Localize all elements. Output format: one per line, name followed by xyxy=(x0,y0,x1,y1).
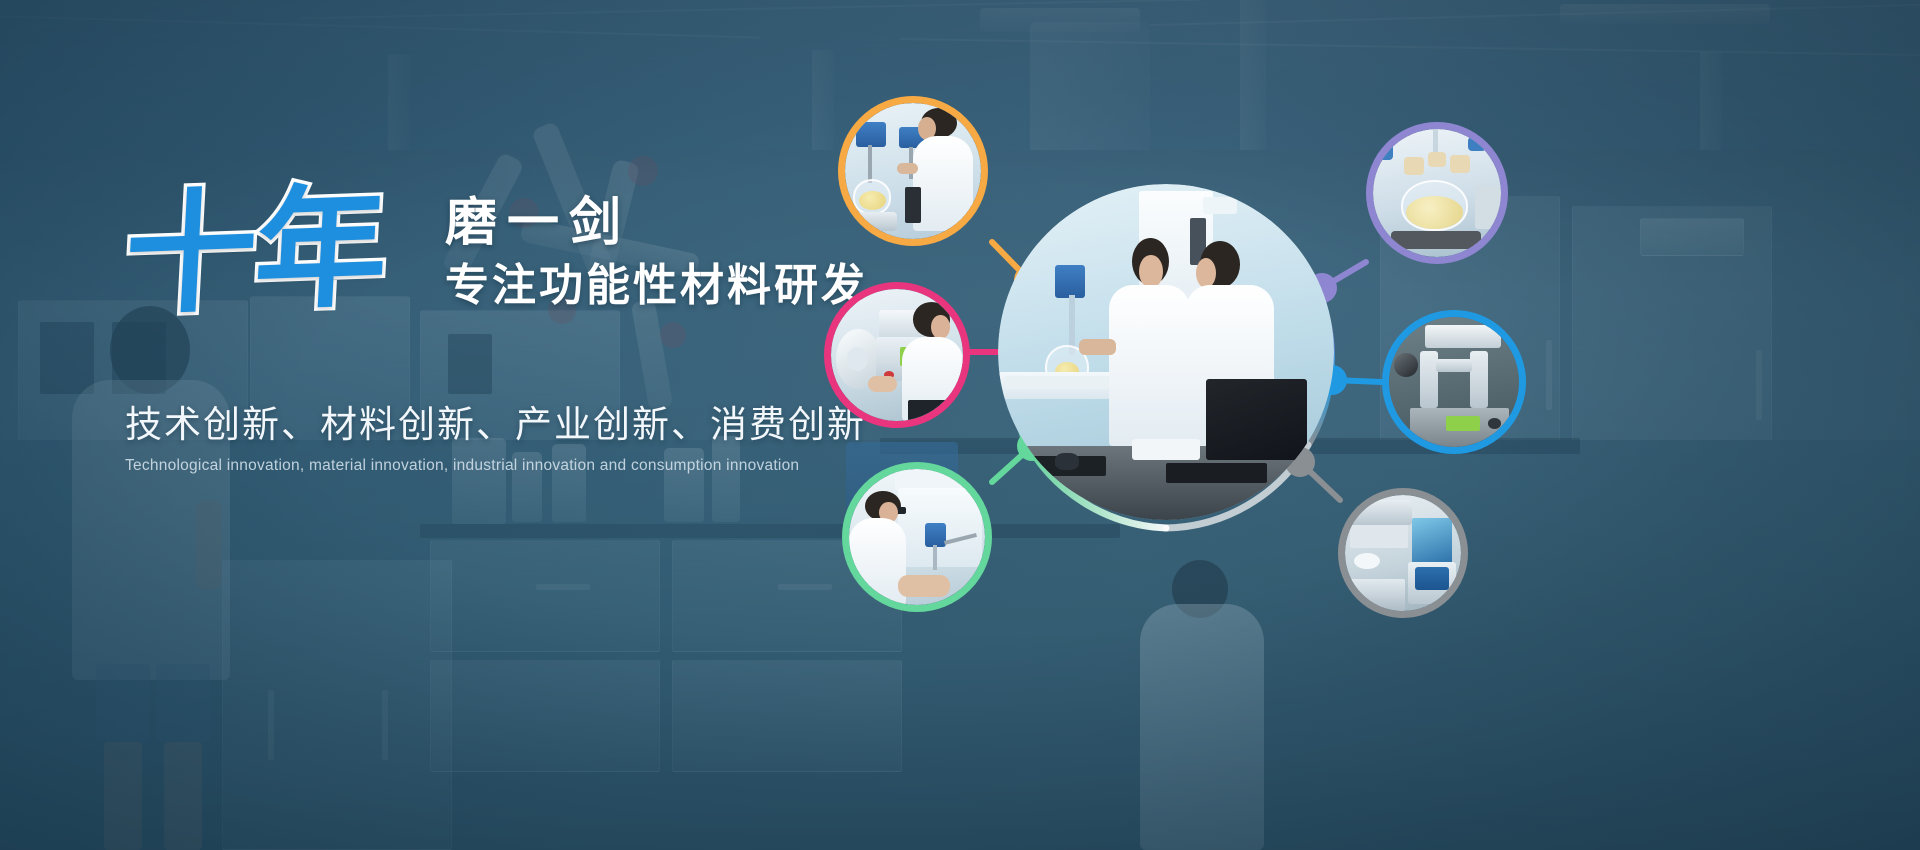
scene-bench xyxy=(1345,579,1405,611)
scene-knob xyxy=(1394,353,1417,376)
scene-stopper xyxy=(1428,152,1446,167)
scene-column xyxy=(1470,351,1488,408)
scene-dish xyxy=(1354,553,1380,569)
scene-stirrer-motor xyxy=(856,122,886,146)
satellite-photo-reactor xyxy=(845,103,981,239)
scene-stir-rod xyxy=(868,145,872,183)
scene-stopper xyxy=(1450,155,1470,173)
scene-fumehood xyxy=(849,469,985,605)
scene-chair xyxy=(908,400,950,421)
scene-cable xyxy=(905,187,921,222)
scene-tray xyxy=(1350,525,1408,548)
scene-person-hand xyxy=(868,376,897,392)
satellite-photo-tester xyxy=(1389,317,1519,447)
satellite-node-left-pink[interactable] xyxy=(824,282,970,428)
subtitle-english: Technological innovation, material innov… xyxy=(125,457,885,475)
scene-person-coat xyxy=(849,518,906,605)
scene-monitor xyxy=(1412,518,1451,564)
scene-workstation xyxy=(1345,495,1461,611)
scene-person1-coat xyxy=(1109,285,1190,446)
scene-display xyxy=(1446,416,1480,432)
satellite-node-right-blue[interactable] xyxy=(1382,310,1526,454)
headline-line-1: 磨一剑 xyxy=(445,194,868,252)
scene-label xyxy=(1203,197,1237,214)
brush-calligraphy-title: 十年 xyxy=(121,182,389,323)
scene-clamp xyxy=(1376,144,1394,159)
scene-coater xyxy=(831,289,963,421)
satellite-node-right-purple[interactable] xyxy=(1366,122,1508,264)
banner-stage: 十年 磨一剑 专注功能性材料研发 技术创新、材料创新、产业创新、消费创新 Tec… xyxy=(0,0,1920,850)
center-photo xyxy=(998,184,1334,520)
scene-person1-hand xyxy=(1079,339,1116,356)
scene-shelf xyxy=(1347,500,1412,526)
subtitle-chinese: 技术创新、材料创新、产业创新、消费创新 xyxy=(125,394,885,448)
scene-emulsion xyxy=(1406,196,1462,229)
satellite-photo-fumehood xyxy=(849,469,985,605)
scene-clamp xyxy=(1468,137,1486,151)
scene-person-face xyxy=(931,315,949,339)
satellite-photo-coater xyxy=(831,289,963,421)
headline-line-2: 专注功能性材料研发 xyxy=(445,258,868,313)
scene-mouse xyxy=(1055,453,1079,470)
scene-hotplate xyxy=(1391,231,1481,249)
scene-stirrer xyxy=(1055,265,1085,299)
satellite-photo-workstation xyxy=(1345,495,1461,611)
scene-instrument-panel xyxy=(1415,567,1450,590)
scene-flask-setup xyxy=(1373,129,1501,257)
scene-stopper xyxy=(1404,157,1424,175)
satellite-node-top-orange[interactable] xyxy=(838,96,988,246)
scene-side-equipment xyxy=(1475,185,1501,229)
center-photo-circle[interactable] xyxy=(998,184,1334,520)
scene-crossbar xyxy=(1436,359,1472,372)
scene-tester xyxy=(1389,317,1519,447)
satellite-photo-flask xyxy=(1373,129,1501,257)
scene-top-panel xyxy=(1425,325,1500,348)
scene-person-hand xyxy=(897,163,919,174)
satellite-node-bottom-gray[interactable] xyxy=(1338,488,1468,618)
scene-stirrer xyxy=(925,523,945,546)
satellite-node-bottom-green[interactable] xyxy=(842,462,992,612)
circle-network-graphic xyxy=(810,90,1570,620)
headline-block: 十年 磨一剑 专注功能性材料研发 技术创新、材料创新、产业创新、消费创新 Tec… xyxy=(125,190,885,475)
scene-center xyxy=(998,184,1334,520)
scene-keyboard xyxy=(1166,463,1267,483)
scene-person1-face xyxy=(1139,255,1163,289)
scene-monitor xyxy=(1206,379,1307,460)
scene-paper xyxy=(1132,439,1199,459)
headline-right: 磨一剑 专注功能性材料研发 xyxy=(445,194,868,313)
scene-stir-rod xyxy=(933,545,937,569)
scene-heating-mantle xyxy=(850,212,896,231)
scene-balance xyxy=(1005,376,1119,389)
scene-dial xyxy=(1488,418,1501,428)
scene-person-hands xyxy=(898,575,950,597)
scene-person-coat xyxy=(913,136,973,231)
scene-reactor xyxy=(845,103,981,239)
scene-roller-hub xyxy=(847,347,868,371)
